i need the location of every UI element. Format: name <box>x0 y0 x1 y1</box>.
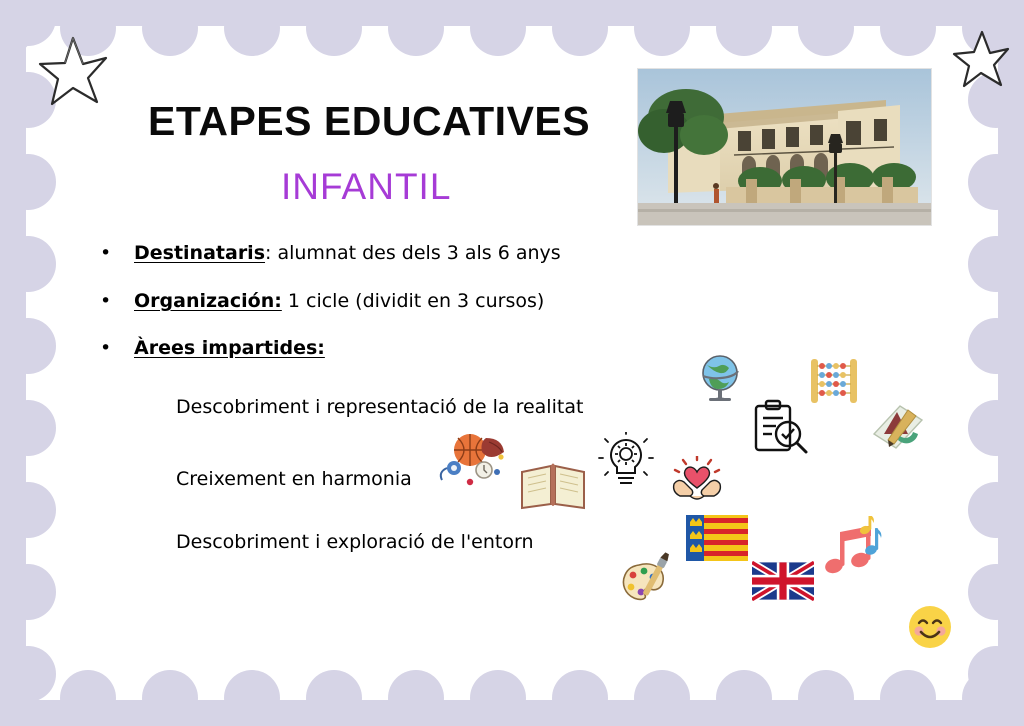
page-subtitle: INFANTIL <box>281 166 451 208</box>
bullet-value: : alumnat des dels 3 als 6 anys <box>265 242 561 264</box>
bullet-dot-icon: • <box>100 292 134 311</box>
bullet-dot-icon: • <box>100 339 134 358</box>
area-line: Descobriment i representació de la reali… <box>176 396 583 418</box>
star-outline-right <box>952 28 1010 92</box>
slide-canvas: ETAPES EDUCATIVES INFANTIL <box>0 0 1024 726</box>
list-item: •Àrees impartides: <box>100 337 325 359</box>
bullet-value: 1 cicle (dividit en 3 cursos) <box>282 290 544 312</box>
list-item: •Destinataris: alumnat des dels 3 als 6 … <box>100 242 561 264</box>
school-building-photo <box>637 68 932 226</box>
list-item: •Organización: 1 cicle (dividit en 3 cur… <box>100 290 544 312</box>
area-line: Creixement en harmonia <box>176 468 412 490</box>
bullet-dot-icon: • <box>100 244 134 263</box>
bullet-label: Organización: <box>134 290 282 312</box>
star-outline-left <box>38 34 108 110</box>
bullet-label: Àrees impartides: <box>134 337 325 359</box>
page-title: ETAPES EDUCATIVES <box>148 98 590 145</box>
area-line: Descobriment i exploració de l'entorn <box>176 531 534 553</box>
bullet-label: Destinataris <box>134 242 265 264</box>
